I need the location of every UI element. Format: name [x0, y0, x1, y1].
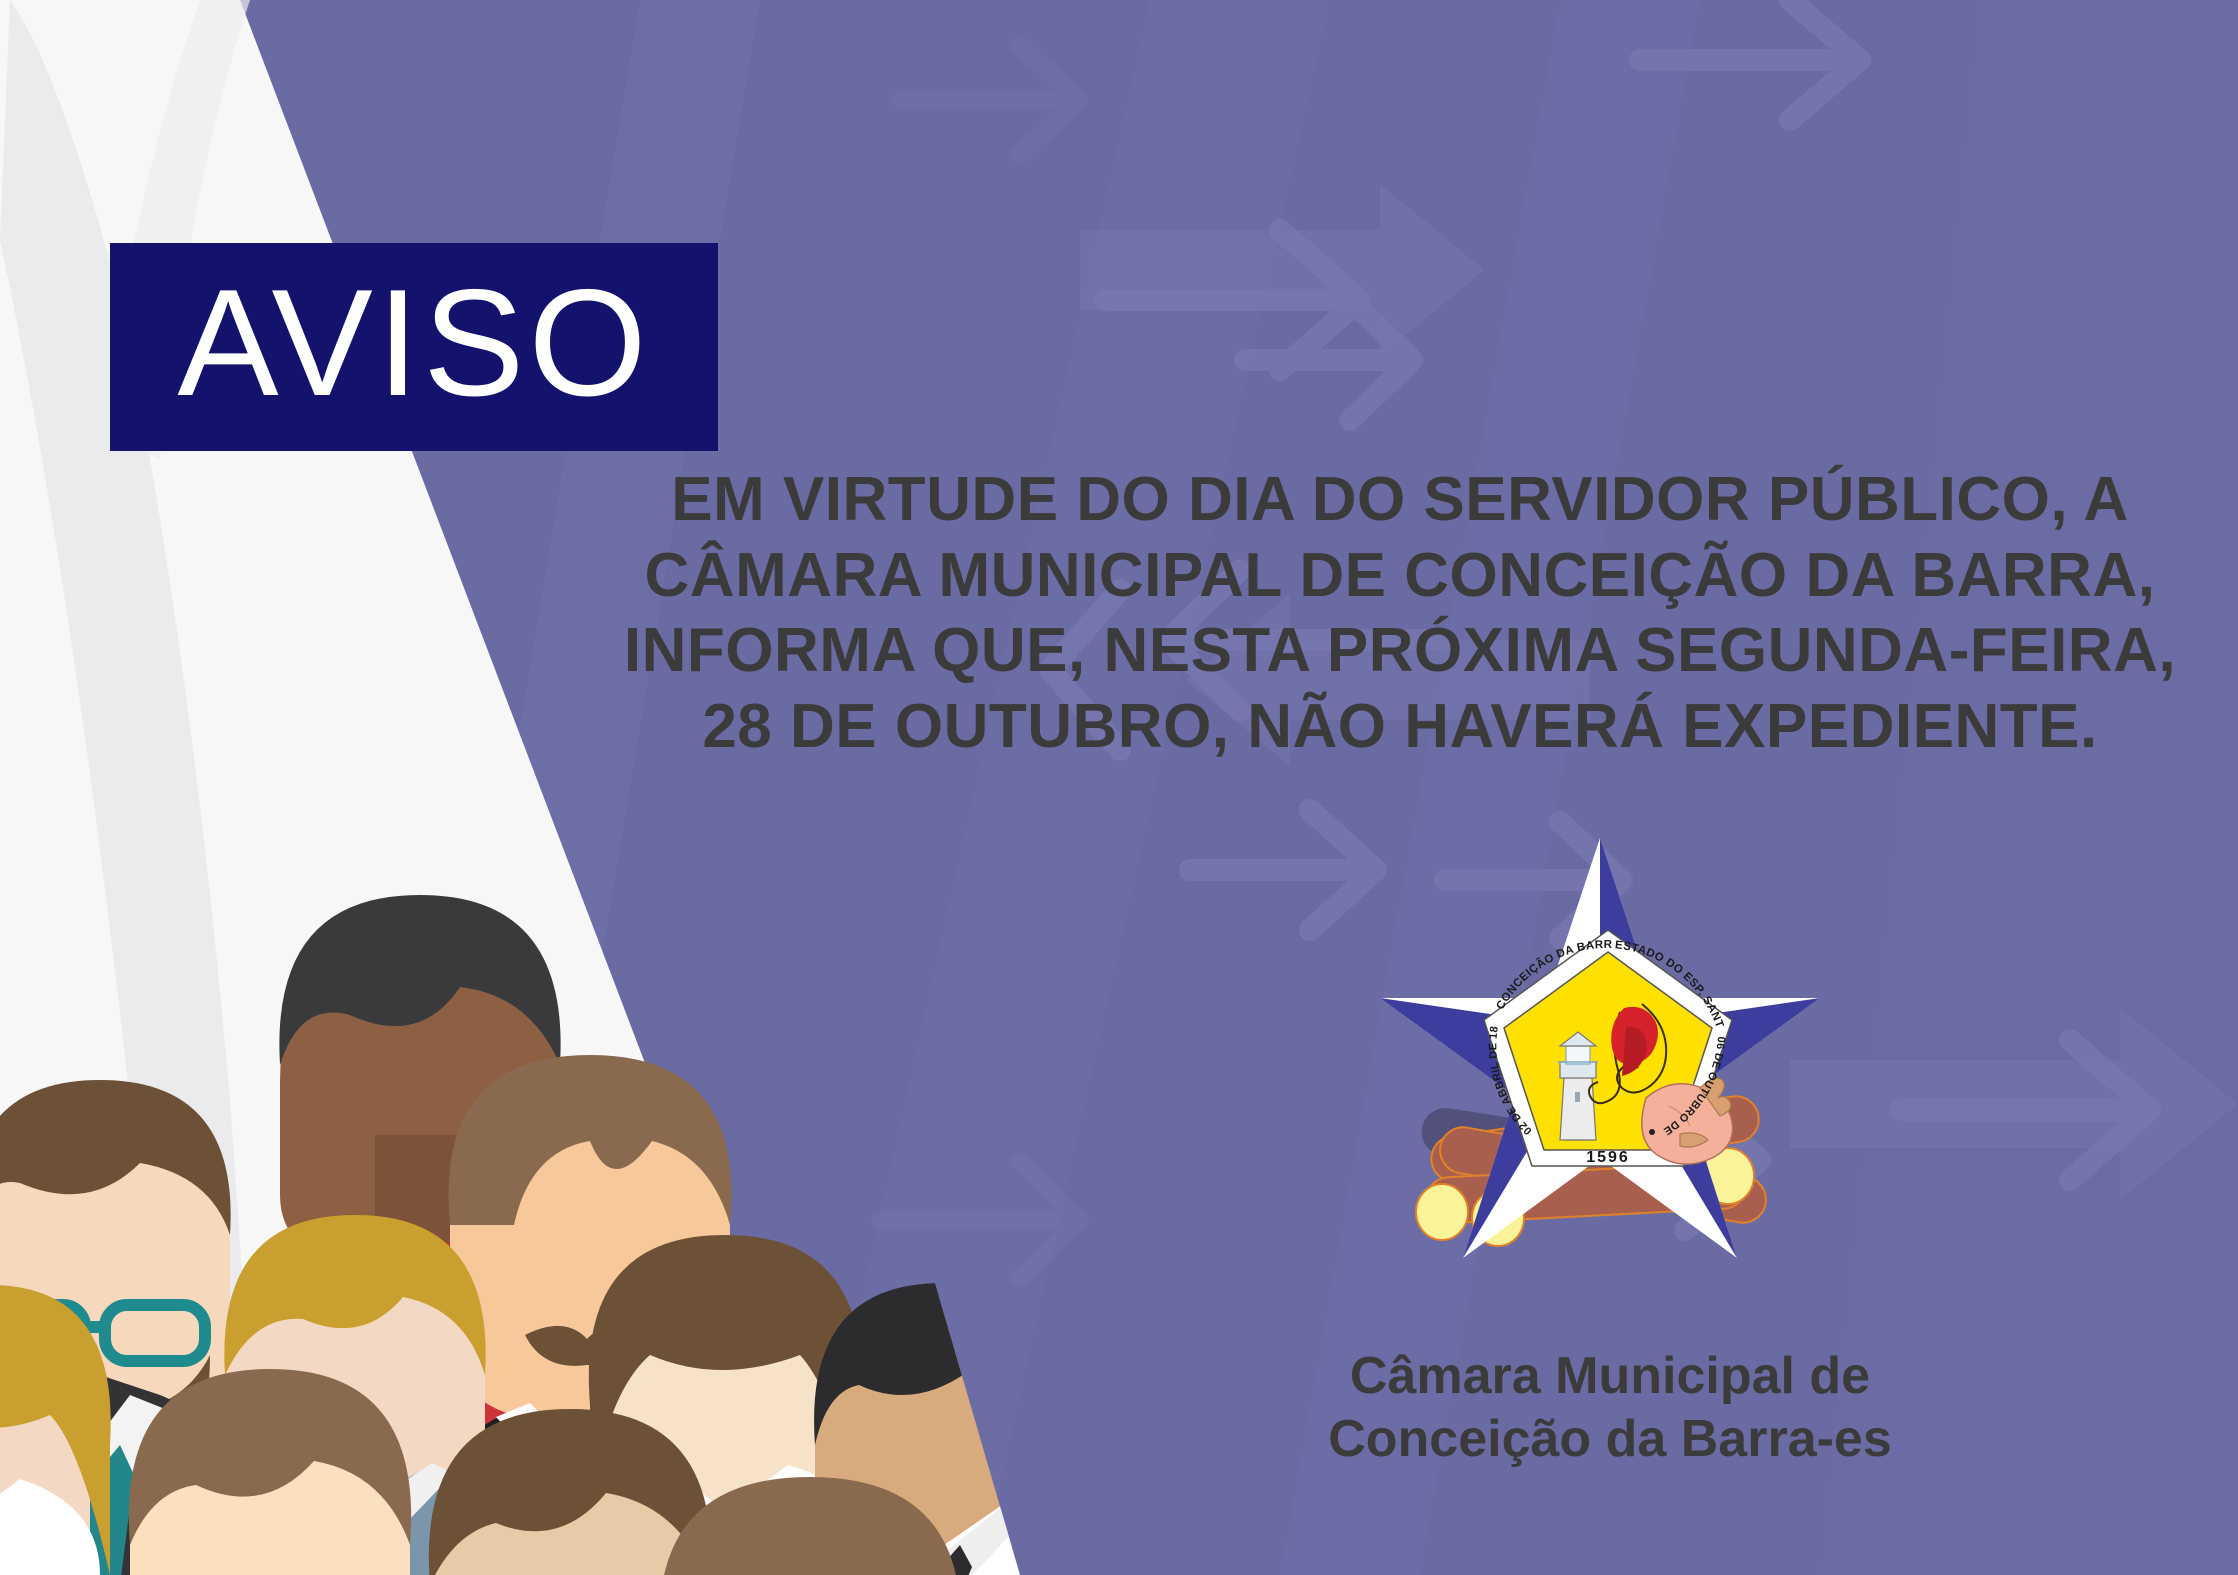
aviso-label: AVISO: [177, 267, 650, 419]
announcement-line-4: 28 DE OUTUBRO, NÃO HAVERÁ EXPEDIENTE.: [600, 689, 2200, 765]
caption-line-1: Câmara Municipal de: [1230, 1345, 1990, 1408]
coat-of-arms: CONCEIÇÃO DA BARRA ESTADO DO ESP. SANTO …: [1380, 830, 1820, 1280]
coat-of-arms-svg: CONCEIÇÃO DA BARRA ESTADO DO ESP. SANTO …: [1380, 830, 1820, 1280]
announcement-line-2: CÂMARA MUNICIPAL DE CONCEIÇÃO DA BARRA,: [600, 538, 2200, 614]
announcement-line-3: INFORMA QUE, NESTA PRÓXIMA SEGUNDA-FEIRA…: [600, 613, 2200, 689]
announcement-text: EM VIRTUDE DO DIA DO SERVIDOR PÚBLICO, A…: [600, 462, 2200, 765]
aviso-banner: AVISO: [110, 243, 718, 451]
announcement-line-1: EM VIRTUDE DO DIA DO SERVIDOR PÚBLICO, A: [600, 462, 2200, 538]
organization-caption: Câmara Municipal de Conceição da Barra-e…: [1230, 1345, 1990, 1472]
caption-line-2: Conceição da Barra-es: [1230, 1408, 1990, 1471]
emblem-year: 1596: [1586, 1149, 1630, 1166]
poster-canvas: AVISO EM VIRTUDE DO DIA DO SERVIDOR PÚBL…: [0, 0, 2238, 1575]
